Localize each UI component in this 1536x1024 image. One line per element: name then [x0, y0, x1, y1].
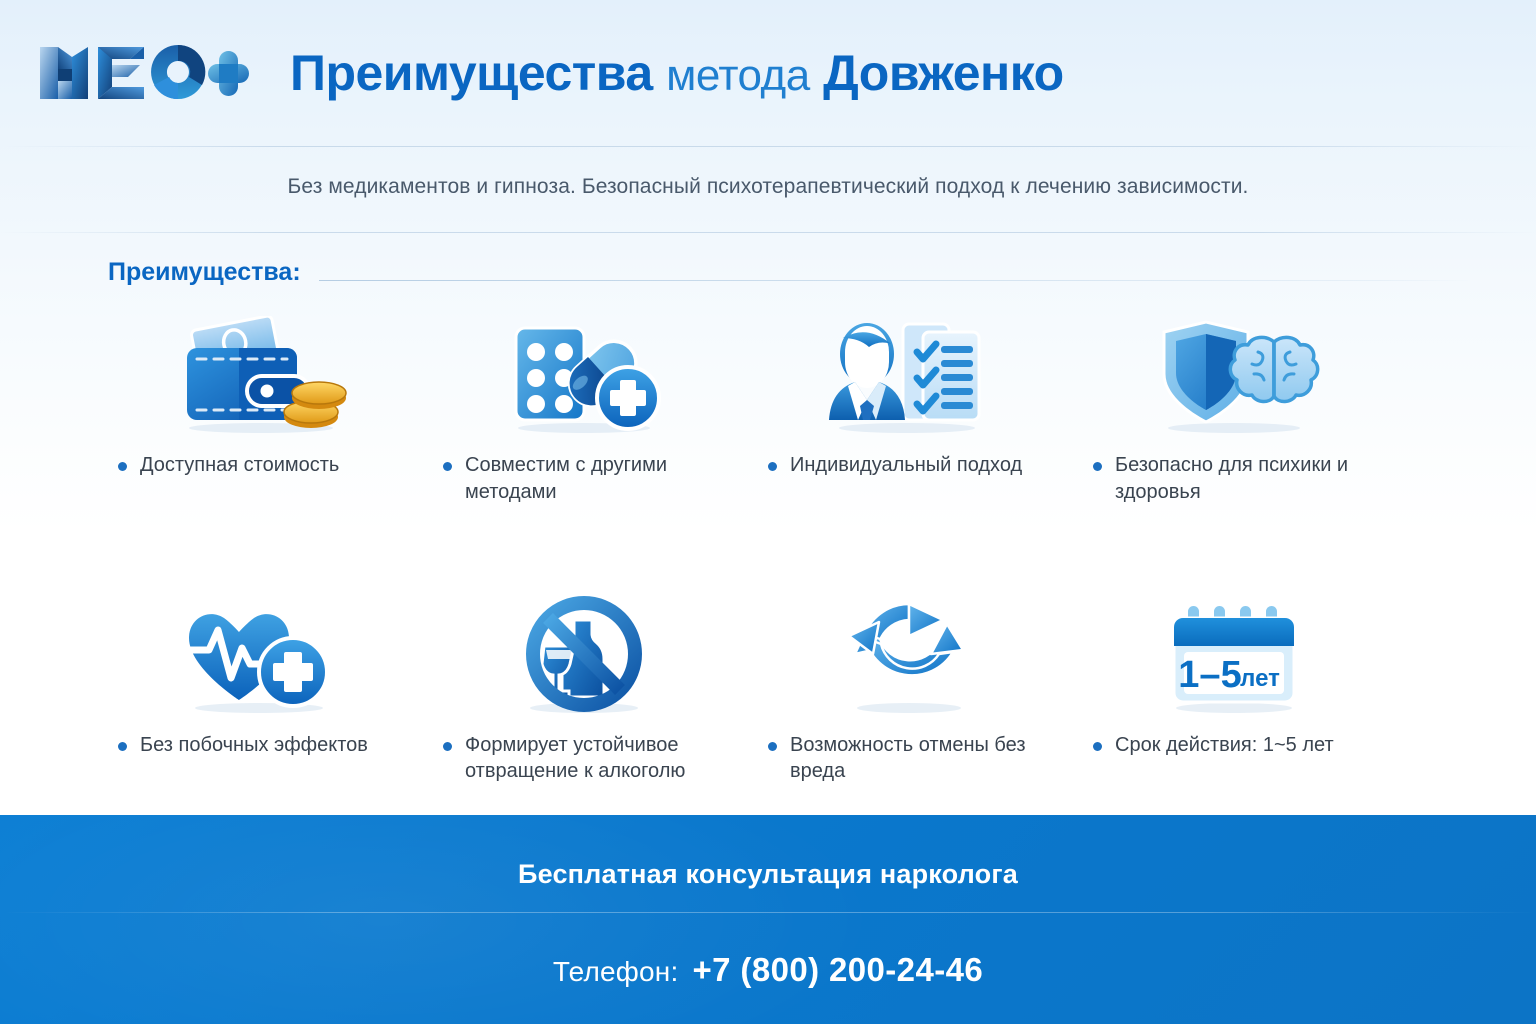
heart-pulse-cross-icon: [96, 592, 421, 714]
benefit-label: Возможность отмены без вреда: [790, 732, 1052, 786]
benefit-caption: Безопасно для психики и здоровья: [1071, 452, 1377, 506]
page-title: Преимущества метода Довженко: [290, 48, 1064, 98]
benefit-item: Возможность отмены без вреда: [746, 592, 1071, 786]
title-part-strong-2: Довженко: [823, 45, 1064, 101]
footer-divider: [0, 912, 1536, 913]
footer-phone-row: Телефон: +7 (800) 200-24-46: [553, 951, 983, 989]
bullet-dot: [1093, 462, 1102, 471]
shield-brain-icon: [1071, 312, 1396, 434]
pills-cross-icon: [421, 312, 746, 434]
calendar-icon: 1–5 лет: [1071, 592, 1396, 714]
footer-title: Бесплатная консультация нарколога: [518, 859, 1018, 890]
doctor-checklist-icon: [746, 312, 1071, 434]
benefits-grid: Доступная стоимость: [96, 312, 1396, 785]
neo-plus-logo: [36, 39, 268, 107]
benefit-item: Формирует устойчивое отвращение к алкого…: [421, 592, 746, 786]
phone-label: Телефон:: [553, 956, 679, 988]
infographic-poster: Преимущества метода Довженко Без медикам…: [0, 0, 1536, 1024]
reversal-arrows-icon: [746, 592, 1071, 714]
benefit-item: Совместим с другими методами: [421, 312, 746, 506]
header: Преимущества метода Довженко: [0, 0, 1536, 146]
bullet-dot: [768, 742, 777, 751]
footer-cta: Бесплатная консультация нарколога Телефо…: [0, 815, 1536, 1024]
benefit-item: 1–5 лет Срок действия: 1~5 лет: [1071, 592, 1396, 786]
benefit-label: Безопасно для психики и здоровья: [1115, 452, 1377, 506]
benefit-label: Без побочных эффектов: [140, 732, 368, 759]
benefit-item: Доступная стоимость: [96, 312, 421, 506]
title-part-light: метода: [666, 51, 810, 100]
calendar-range-text: 1–5: [1178, 654, 1241, 696]
wallet-coins-icon: [96, 312, 421, 434]
benefit-label: Совместим с другими методами: [465, 452, 727, 506]
no-alcohol-icon: [421, 592, 746, 714]
bullet-dot: [443, 742, 452, 751]
benefit-item: Без побочных эффектов: [96, 592, 421, 786]
benefit-caption: Возможность отмены без вреда: [746, 732, 1052, 786]
subtitle-divider: [0, 232, 1536, 233]
bullet-dot: [768, 462, 777, 471]
benefit-caption: Индивидуальный подход: [746, 452, 1022, 479]
benefit-caption: Совместим с другими методами: [421, 452, 727, 506]
bullet-dot: [1093, 742, 1102, 751]
bullet-dot: [118, 462, 127, 471]
benefit-caption: Формирует устойчивое отвращение к алкого…: [421, 732, 727, 786]
benefits-section-header: Преимущества:: [108, 258, 1472, 287]
benefit-item: Индивидуальный подход: [746, 312, 1071, 506]
benefit-item: Безопасно для психики и здоровья: [1071, 312, 1396, 506]
calendar-unit-text: лет: [1240, 665, 1280, 692]
section-heading-label: Преимущества:: [108, 258, 301, 287]
benefit-label: Формирует устойчивое отвращение к алкого…: [465, 732, 727, 786]
phone-number[interactable]: +7 (800) 200-24-46: [692, 951, 983, 989]
bullet-dot: [118, 742, 127, 751]
benefit-label: Доступная стоимость: [140, 452, 339, 479]
title-part-strong-1: Преимущества: [290, 45, 653, 101]
benefit-label: Индивидуальный подход: [790, 452, 1022, 479]
section-heading-rule: [319, 280, 1472, 281]
subtitle: Без медикаментов и гипноза. Безопасный п…: [0, 175, 1536, 199]
header-divider: [0, 146, 1536, 147]
benefit-caption: Доступная стоимость: [96, 452, 339, 479]
bullet-dot: [443, 462, 452, 471]
benefit-caption: Без побочных эффектов: [96, 732, 368, 759]
benefit-label: Срок действия: 1~5 лет: [1115, 732, 1334, 759]
benefit-caption: Срок действия: 1~5 лет: [1071, 732, 1334, 759]
